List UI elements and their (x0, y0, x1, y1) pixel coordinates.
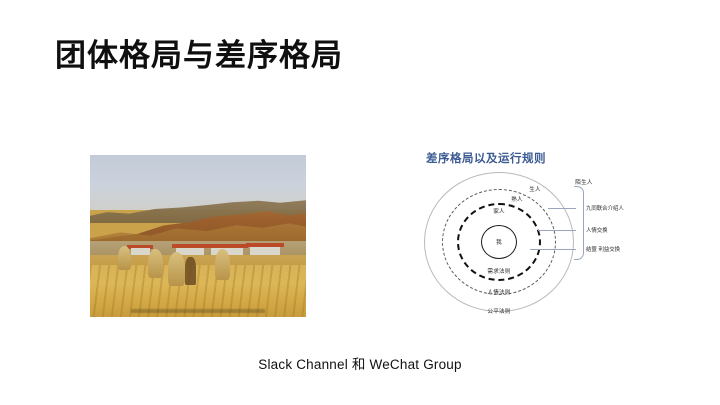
painting-sky (90, 155, 306, 210)
painting-signature-watermark (131, 309, 265, 313)
rule-demand: 需求法则 (487, 267, 510, 275)
label-self: 我 (496, 238, 502, 246)
concentric-rings: 我 家人 熟人 生人 需求法则 人情法则 公平法则 (424, 172, 574, 312)
painting-haystack (215, 249, 230, 280)
painting-haystack (168, 252, 185, 286)
chaxu-geju-diagram: 差序格局以及运行规则 我 家人 熟人 生人 需求法则 人情法则 公平法则 陌生人… (398, 150, 628, 320)
page-title: 团体格局与差序格局 (55, 38, 343, 75)
painting-haystack (118, 246, 131, 270)
painting-house-roof (209, 244, 248, 248)
annotation-jiutong: 九同联合介绍人 (586, 204, 624, 212)
slide-canvas: 团体格局与差序格局 差序格局以及运行规则 (0, 0, 720, 405)
annotation-renqing: 人情交换 (586, 226, 608, 234)
label-outsider: 生人 (529, 185, 541, 193)
label-strangers: 陌生人 (575, 178, 592, 186)
leader-line (538, 230, 576, 231)
rural-harvest-landscape-painting (90, 155, 306, 317)
rule-fairness: 公平法则 (487, 307, 510, 315)
label-acquaintance: 熟人 (511, 195, 523, 203)
diagram-heading: 差序格局以及运行规则 (426, 150, 546, 166)
painting-haystack (148, 249, 163, 278)
painting-house-roof (172, 244, 209, 248)
rule-renqing: 人情法则 (487, 288, 510, 296)
painting-figure (185, 257, 196, 285)
painting-house-roof (246, 243, 285, 247)
slide-caption: Slack Channel 和 WeChat Group (0, 353, 720, 373)
annotation-alliance: 结盟 利益交换 (586, 245, 620, 253)
leader-line (530, 249, 576, 250)
label-family: 家人 (493, 207, 505, 215)
leader-line (548, 208, 576, 209)
